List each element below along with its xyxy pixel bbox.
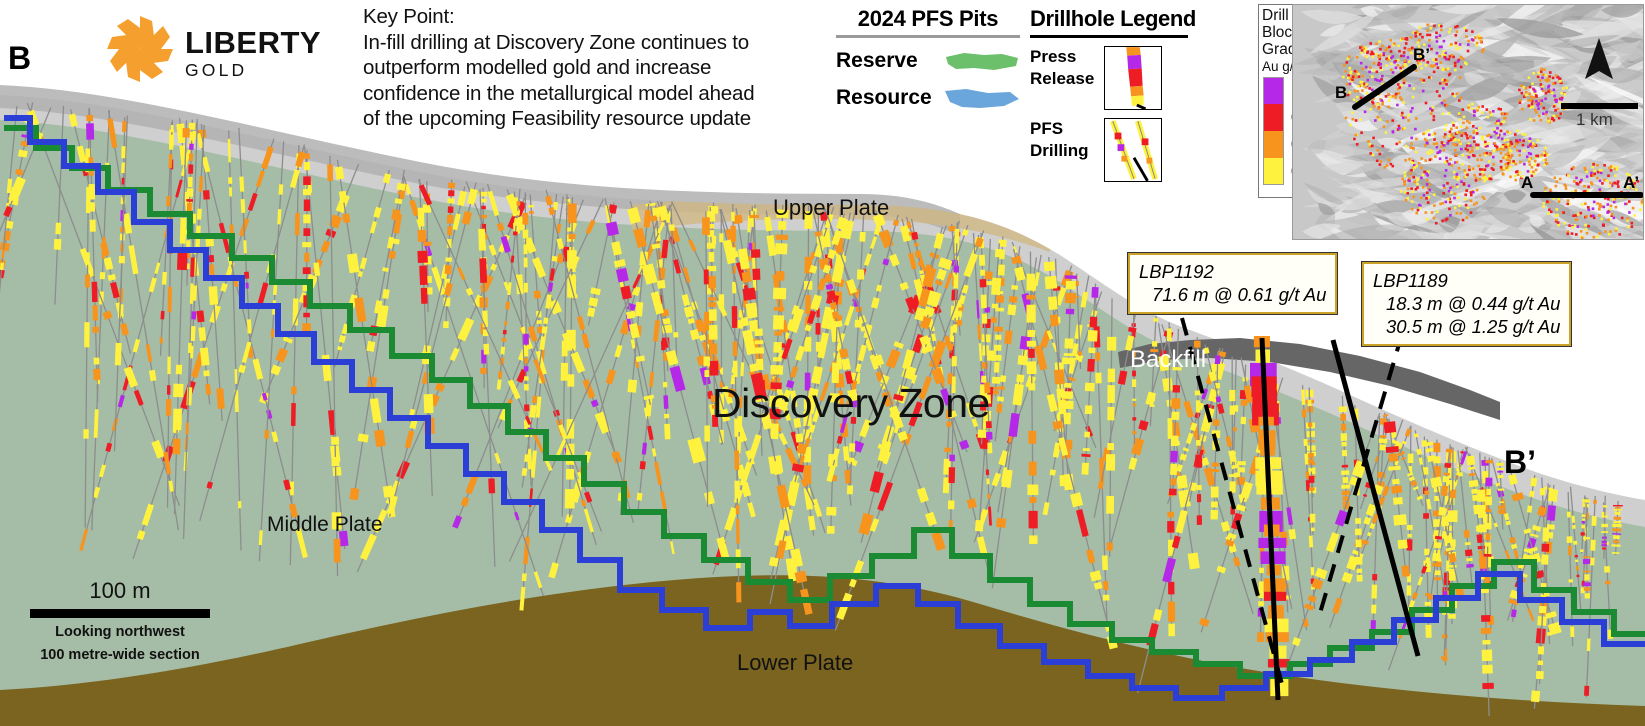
grade-interval	[835, 312, 836, 319]
grade-interval	[331, 410, 333, 435]
grade-interval	[660, 260, 661, 268]
inset-drill-point	[1449, 187, 1452, 190]
inset-drill-point	[1554, 109, 1557, 112]
inset-drill-point	[1573, 180, 1576, 183]
grade-interval	[1466, 530, 1467, 538]
inset-drill-point	[1614, 174, 1617, 177]
inset-drill-point	[1560, 98, 1563, 101]
inset-drill-point	[1516, 130, 1519, 133]
grade-interval	[533, 451, 535, 478]
grade-interval	[465, 212, 468, 224]
grade-interval	[971, 499, 973, 508]
inset-drill-point	[1504, 117, 1507, 120]
inset-drill-point	[1478, 37, 1481, 40]
scale-bar-caption-1: Looking northwest	[30, 623, 210, 641]
inset-drill-point	[1481, 112, 1484, 115]
inset-drill-point	[1522, 144, 1525, 147]
grade-interval	[619, 260, 620, 266]
inset-drill-point	[1419, 33, 1422, 36]
inset-drill-point	[1551, 118, 1554, 121]
grade-interval	[316, 263, 317, 276]
inset-drill-point	[1467, 50, 1470, 53]
inset-drill-point	[1473, 203, 1476, 206]
inset-drill-point	[1374, 119, 1377, 122]
callout-lbp1192[interactable]: LBP1192 71.6 m @ 0.61 g/t Au	[1128, 253, 1337, 314]
inset-drill-point	[1515, 163, 1518, 166]
inset-drill-point	[1480, 40, 1483, 43]
inset-drill-point	[1468, 169, 1471, 172]
grade-interval	[1220, 404, 1222, 413]
inset-drill-point	[1542, 73, 1545, 76]
inset-drill-point	[1388, 46, 1391, 49]
inset-drill-point	[1458, 131, 1461, 134]
inset-drill-point	[1417, 41, 1420, 44]
inset-drill-point	[1428, 76, 1431, 79]
grade-interval	[644, 443, 645, 455]
inset-drill-point	[1535, 169, 1538, 172]
grade-interval	[667, 424, 668, 439]
grade-interval	[1052, 470, 1053, 476]
inset-drill-point	[1599, 188, 1602, 191]
inset-drill-point	[1473, 131, 1476, 134]
grade-interval	[940, 270, 943, 279]
inset-drill-point	[1457, 176, 1460, 179]
grade-interval	[1016, 257, 1018, 263]
inset-drill-point	[1527, 146, 1530, 149]
inset-drill-point	[1460, 126, 1463, 129]
grade-interval	[656, 244, 657, 248]
grade-interval	[661, 280, 662, 288]
inset-drill-point	[1530, 99, 1533, 102]
grade-interval	[830, 250, 833, 258]
inset-drill-point	[1460, 97, 1463, 100]
inset-drill-point	[1402, 117, 1405, 120]
inset-drill-point	[1601, 182, 1604, 185]
grade-interval	[1050, 395, 1054, 412]
grade-interval	[839, 436, 841, 443]
inset-drill-point	[1515, 171, 1518, 174]
grade-interval	[521, 587, 523, 611]
inset-drill-point	[1372, 69, 1375, 72]
inset-drill-point	[1462, 219, 1465, 222]
grade-interval	[422, 251, 423, 263]
inset-drill-point	[1449, 158, 1452, 161]
grade-interval	[638, 229, 643, 247]
inset-drill-point	[1532, 105, 1535, 108]
grade-interval	[524, 573, 525, 581]
inset-drill-point	[1555, 185, 1558, 188]
grade-interval	[211, 255, 212, 262]
inset-drill-point	[1565, 87, 1568, 90]
inset-drill-point	[1552, 77, 1555, 80]
grade-interval	[341, 336, 343, 343]
inset-drill-point	[1549, 189, 1552, 192]
inset-drill-point	[1487, 116, 1490, 119]
grade-interval	[1536, 526, 1537, 531]
grade-interval	[439, 384, 442, 391]
inset-drill-point	[1613, 217, 1616, 220]
inset-drill-point	[1465, 198, 1468, 201]
grade-interval	[1132, 328, 1133, 332]
callout-lbp1189[interactable]: LBP1189 18.3 m @ 0.44 g/t Au 30.5 m @ 1.…	[1362, 262, 1571, 346]
inset-drill-point	[1407, 188, 1410, 191]
grade-interval	[1512, 538, 1513, 543]
grade-interval	[1024, 337, 1026, 350]
grade-interval	[1088, 405, 1089, 414]
grade-interval	[1389, 422, 1390, 433]
inset-drill-point	[1528, 105, 1531, 108]
inset-drill-point	[1457, 60, 1460, 63]
inset-drill-point	[1455, 44, 1458, 47]
grade-interval	[590, 308, 592, 316]
grade-interval	[1013, 296, 1014, 302]
grade-interval	[749, 288, 751, 299]
inset-drill-point	[1628, 211, 1631, 214]
grade-interval	[209, 482, 211, 488]
inset-drill-point	[1537, 76, 1540, 79]
reserve-label: Reserve	[836, 49, 944, 73]
grade-interval	[703, 335, 704, 340]
inset-drill-point	[1351, 111, 1354, 114]
inset-drill-point	[1456, 161, 1459, 164]
grade-interval	[552, 563, 556, 578]
grade-interval	[505, 330, 506, 334]
inset-drill-point	[1449, 214, 1452, 217]
inset-drill-point	[1475, 179, 1478, 182]
lower-plate-label: Lower Plate	[737, 650, 853, 676]
inset-drill-point	[1466, 216, 1469, 219]
inset-drill-point	[1610, 169, 1613, 172]
grade-interval	[927, 268, 932, 287]
inset-drill-point	[1356, 56, 1359, 59]
inset-drill-point	[1461, 163, 1464, 166]
grade-interval	[566, 333, 572, 349]
inset-drill-point	[1432, 58, 1435, 61]
inset-drill-point	[1532, 72, 1535, 75]
grade-interval	[984, 295, 985, 309]
grade-interval	[339, 347, 340, 351]
grade-interval	[1240, 505, 1242, 510]
grade-interval	[1446, 476, 1447, 482]
inset-drill-point	[1471, 30, 1474, 33]
inset-drill-point	[1385, 131, 1388, 134]
grade-interval	[630, 312, 631, 319]
inset-drill-point	[1631, 222, 1634, 225]
inset-drill-point	[1617, 185, 1620, 188]
grade-interval	[72, 114, 75, 126]
inset-drill-point	[1443, 149, 1446, 152]
resource-swatch	[944, 86, 1020, 110]
inset-drill-point	[1438, 151, 1441, 154]
inset-location-map[interactable]: B B’ A A’ 1 km	[1292, 4, 1644, 240]
inset-drill-point	[1631, 225, 1634, 228]
inset-drill-point	[1360, 52, 1363, 55]
grade-interval	[1448, 536, 1450, 544]
drillhole-legend: Drillhole Legend Press Release PFS	[1030, 6, 1188, 182]
inset-drill-point	[1436, 90, 1439, 93]
inset-drill-point	[1352, 76, 1355, 79]
inset-drill-point	[1452, 121, 1455, 124]
inset-drill-point	[1557, 224, 1560, 227]
grade-interval	[206, 371, 207, 377]
inset-drill-point	[1543, 164, 1546, 167]
grade-interval	[272, 329, 273, 337]
inset-drill-point	[1349, 72, 1352, 75]
inset-drill-point	[1360, 81, 1363, 84]
grade-interval	[1413, 481, 1415, 485]
grade-interval	[206, 190, 207, 199]
inset-label-bp: B’	[1413, 45, 1430, 65]
inset-drill-point	[1610, 205, 1613, 208]
inset-drill-point	[1406, 192, 1409, 195]
grade-interval	[923, 347, 925, 354]
inset-drill-point	[1525, 94, 1528, 97]
inset-drill-point	[1583, 185, 1586, 188]
inset-drill-point	[1448, 112, 1451, 115]
inset-drill-point	[1433, 138, 1436, 141]
inset-drill-point	[1433, 119, 1436, 122]
grade-interval	[1428, 499, 1430, 509]
inset-drill-point	[1518, 150, 1521, 153]
grade-interval	[1136, 439, 1140, 454]
grade-interval	[1095, 287, 1096, 298]
inset-drill-point	[1455, 48, 1458, 51]
grade-interval	[550, 283, 551, 292]
inset-drill-point	[1615, 227, 1618, 230]
inset-drill-point	[1613, 182, 1616, 185]
grade-interval	[554, 256, 555, 261]
inset-drill-point	[1420, 157, 1423, 160]
inset-drill-point	[1563, 93, 1566, 96]
inset-drill-point	[1565, 185, 1568, 188]
logo-wordmark-secondary: GOLD	[185, 60, 321, 80]
grade-interval	[1075, 494, 1078, 507]
inset-drill-point	[1500, 123, 1503, 126]
inset-drill-point	[1529, 86, 1532, 89]
grade-interval	[170, 481, 172, 492]
inset-drill-point	[1603, 164, 1606, 167]
pfs-drilling-label: PFS Drilling	[1030, 118, 1104, 182]
inset-drill-point	[1441, 102, 1444, 105]
inset-drill-point	[1403, 55, 1406, 58]
inset-drill-point	[1365, 56, 1368, 59]
grade-interval	[781, 485, 786, 507]
inset-drill-point	[1476, 132, 1479, 135]
inset-drill-point	[1484, 168, 1487, 171]
grade-interval	[532, 405, 534, 417]
grade-interval	[1403, 458, 1404, 460]
resource-label: Resource	[836, 86, 944, 110]
grade-interval	[1308, 480, 1309, 491]
inset-drill-point	[1558, 200, 1561, 203]
inset-drill-point	[1343, 64, 1346, 67]
grade-interval	[931, 292, 936, 306]
inset-drill-point	[1441, 141, 1444, 144]
inset-drill-point	[1408, 180, 1411, 183]
inset-drill-point	[1367, 79, 1370, 82]
grade-interval	[1142, 421, 1144, 430]
inset-drill-point	[1475, 144, 1478, 147]
inset-drill-point	[1546, 200, 1549, 203]
grade-interval	[1000, 397, 1001, 402]
grade-interval	[1545, 555, 1546, 565]
inset-drill-point	[1494, 142, 1497, 145]
grade-interval	[649, 426, 652, 440]
inset-drill-point	[1592, 215, 1595, 218]
grade-interval	[1393, 454, 1394, 462]
inset-drill-point	[1437, 66, 1440, 69]
inset-drill-point	[1353, 138, 1356, 141]
grade-interval	[22, 150, 23, 157]
inset-drill-point	[1344, 70, 1347, 73]
grade-interval	[926, 337, 928, 344]
inset-drill-point	[1519, 161, 1522, 164]
inset-drill-point	[1534, 90, 1537, 93]
grade-interval	[584, 334, 588, 348]
inset-drill-point	[1397, 64, 1400, 67]
inset-drill-point	[1372, 102, 1375, 105]
grade-interval	[1085, 463, 1086, 475]
inset-drill-point	[1392, 130, 1395, 133]
inset-drill-point	[1487, 142, 1490, 145]
grade-interval	[538, 397, 540, 418]
grade-interval	[632, 339, 634, 348]
grade-interval	[1018, 268, 1021, 280]
grade-interval	[1431, 456, 1432, 462]
inset-drill-point	[1466, 127, 1469, 130]
inset-drill-point	[1429, 34, 1432, 37]
inset-drill-point	[1359, 46, 1362, 49]
inset-drill-point	[1403, 101, 1406, 104]
inset-drill-point	[1470, 211, 1473, 214]
inset-drill-point	[1537, 107, 1540, 110]
inset-drill-point	[1386, 164, 1389, 167]
inset-drill-point	[1525, 87, 1528, 90]
inset-drill-point	[1506, 159, 1509, 162]
grade-interval	[180, 124, 182, 143]
inset-label-a: A	[1521, 173, 1533, 193]
grade-interval	[1482, 550, 1483, 554]
inset-drill-point	[1428, 134, 1431, 137]
grade-interval	[742, 249, 745, 269]
grade-interval	[1586, 686, 1587, 696]
inset-drill-point	[1528, 140, 1531, 143]
grade-interval	[936, 533, 942, 550]
grade-interval	[500, 371, 501, 378]
inset-drill-point	[1354, 76, 1357, 79]
callout-lbp1189-interval-2: 30.5 m @ 1.25 g/t Au	[1373, 315, 1560, 338]
grade-interval	[882, 441, 887, 461]
inset-drill-point	[1409, 172, 1412, 175]
grade-interval	[850, 280, 854, 293]
grade-interval	[611, 223, 614, 236]
grade-interval	[1529, 506, 1530, 513]
grade-interval	[529, 449, 530, 470]
grade-interval	[615, 452, 617, 458]
inset-drill-point	[1463, 182, 1466, 185]
inset-drill-point	[1555, 214, 1558, 217]
inset-drill-point	[1453, 171, 1456, 174]
inset-drill-point	[1401, 112, 1404, 115]
grade-interval	[1423, 566, 1425, 573]
inset-drill-point	[1398, 141, 1401, 144]
inset-drill-point	[1443, 144, 1446, 147]
inset-drill-point	[1555, 219, 1558, 222]
grade-interval	[1320, 570, 1323, 578]
inset-drill-point	[1371, 89, 1374, 92]
grade-interval	[921, 489, 925, 502]
inset-drill-point	[1379, 55, 1382, 58]
grade-interval	[1052, 297, 1053, 310]
inset-drill-point	[1511, 143, 1514, 146]
grade-interval	[468, 289, 471, 295]
drillhole-legend-title: Drillhole Legend	[1030, 6, 1188, 38]
inset-drill-point	[1444, 56, 1447, 59]
inset-drill-point	[1450, 133, 1453, 136]
inset-drill-point	[1364, 86, 1367, 89]
inset-drill-point	[1449, 201, 1452, 204]
inset-drill-point	[1445, 169, 1448, 172]
grade-interval	[192, 258, 193, 277]
grade-interval	[621, 269, 624, 282]
inset-drill-point	[1458, 99, 1461, 102]
inset-drill-point	[1591, 166, 1594, 169]
inset-drill-point	[1362, 75, 1365, 78]
inset-drill-point	[1541, 88, 1544, 91]
inset-drill-point	[1482, 136, 1485, 139]
grade-interval	[229, 139, 230, 163]
inset-drill-point	[1506, 130, 1509, 133]
inset-drill-point	[1392, 165, 1395, 168]
inset-drill-point	[1430, 27, 1433, 30]
grade-interval	[123, 324, 126, 335]
grade-interval	[1092, 330, 1093, 341]
inset-drill-point	[1398, 127, 1401, 130]
inset-drill-point	[1426, 191, 1429, 194]
inset-drill-point	[1361, 89, 1364, 92]
inset-drill-point	[1388, 159, 1391, 162]
grade-interval	[363, 434, 364, 442]
grade-interval	[559, 239, 562, 249]
inset-drill-point	[1493, 131, 1496, 134]
inset-drill-point	[1525, 91, 1528, 94]
grade-interval	[362, 258, 365, 269]
inset-drill-point	[1458, 167, 1461, 170]
grade-interval	[2, 263, 3, 270]
inset-drill-point	[1408, 158, 1411, 161]
grade-interval	[812, 252, 814, 258]
grade-interval	[979, 520, 980, 531]
grade-chip-yellow	[1263, 158, 1284, 185]
inset-drill-point	[1587, 206, 1590, 209]
grade-interval	[903, 283, 905, 289]
grade-interval	[423, 266, 424, 285]
inset-drill-point	[1405, 145, 1408, 148]
grade-interval	[655, 320, 657, 341]
grade-interval	[857, 364, 859, 372]
grade-interval	[1396, 461, 1398, 466]
inset-drill-point	[1355, 134, 1358, 137]
inset-drill-point	[1404, 191, 1407, 194]
inset-drill-point	[1440, 61, 1443, 64]
inset-drill-point	[1377, 149, 1380, 152]
grade-interval	[876, 356, 879, 365]
inset-drill-point	[1535, 100, 1538, 103]
grade-interval	[298, 152, 302, 166]
grade-interval	[895, 220, 896, 225]
grade-interval	[1369, 533, 1370, 536]
grade-interval	[684, 295, 687, 306]
